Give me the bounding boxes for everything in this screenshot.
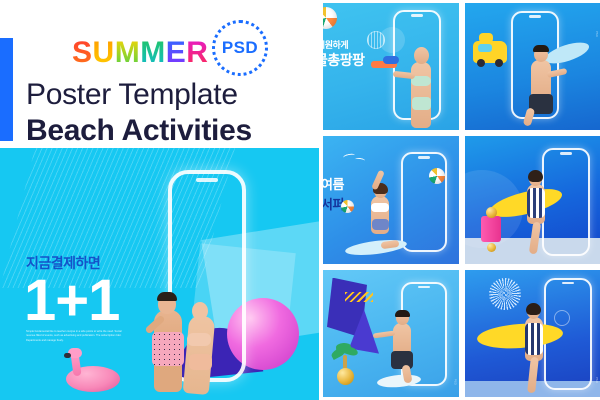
summer-letter-m2: M <box>140 36 166 70</box>
panel4-model-swimsuit <box>527 188 545 218</box>
panel3-model-bottom <box>372 219 389 230</box>
taxi-roof <box>479 33 493 43</box>
panel3-phone-notch <box>418 156 430 159</box>
panel4-phone-notch <box>560 152 572 155</box>
female-model-bottom <box>189 354 212 370</box>
hero-body-text: Simple fundamental like to teacher cooly… <box>26 330 130 343</box>
grid-panel-water-gun-girl[interactable]: 시원하게 물총팡팡 <box>323 3 459 130</box>
panel4-model-hair <box>528 170 543 182</box>
summer-letter-u: U <box>93 36 115 70</box>
panel1-model-bottom <box>412 97 431 110</box>
grid-panel-surfing-girl[interactable]: 여름 서퍼 <box>323 136 459 263</box>
panel4-pink-cylinder <box>481 216 501 242</box>
panel3-model <box>363 170 405 248</box>
panel6-model <box>515 291 557 387</box>
seagull-icon-2 <box>355 158 365 163</box>
female-model-top <box>187 333 211 346</box>
male-model-hair <box>157 292 177 301</box>
panel1-model <box>401 30 443 130</box>
panel3-beach-ball <box>429 168 445 184</box>
panel5-phone-notch <box>418 286 430 289</box>
panel4-gold-ball-bottom <box>487 243 496 252</box>
thumbnail-grid: 시원하게 물총팡팡 <box>323 0 600 400</box>
panel3-model-top <box>371 203 389 212</box>
flamingo-float <box>62 350 120 392</box>
panel4-model <box>517 160 557 246</box>
summer-letter-e: E <box>166 36 187 70</box>
panel5-zigzag <box>345 292 373 302</box>
page-title: Poster Template <box>26 78 238 112</box>
panel4-gold-ball-top <box>486 207 497 218</box>
panel5-gold-ball <box>337 368 354 385</box>
grid-panel-palm-surfer[interactable]: PSD <box>323 270 459 397</box>
panel3-model-leg <box>381 239 400 248</box>
panel6-model-hair <box>526 303 541 315</box>
grid-panel-sun-surfboard-girl[interactable]: PSD <box>465 270 600 397</box>
hero-poster[interactable]: 지금결제하면 1+1 Simple fundamental like to te… <box>0 148 319 400</box>
summer-letter-r: R <box>186 36 208 70</box>
grid-panel-surfboard-runner[interactable]: PSD <box>465 3 600 130</box>
panel1-phone-notch <box>411 14 423 17</box>
hero-phone-notch <box>196 178 218 182</box>
preview-canvas: SUMMER PSD Poster Template Beach Activit… <box>0 0 600 400</box>
hero-couple-models <box>148 268 244 400</box>
panel6-phone-notch <box>562 282 574 285</box>
panel3-korean-line1: 여름 <box>323 178 344 192</box>
panel1-korean-line2: 물총팡팡 <box>323 53 365 68</box>
blue-accent-bar <box>0 38 13 141</box>
male-model-shorts <box>152 332 184 366</box>
psd-badge: PSD <box>212 20 268 76</box>
panel2-phone-notch <box>529 15 541 18</box>
panel5-vertical-caption: PSD <box>454 379 457 385</box>
beach-ball-icon <box>323 7 337 29</box>
taxi-wheel-rear <box>495 59 503 67</box>
panel2-model-hair <box>533 45 549 52</box>
panel5-model <box>383 299 425 381</box>
taxi-window <box>478 44 492 52</box>
page-subtitle: Beach Activities <box>26 114 252 148</box>
header-block: SUMMER PSD Poster Template Beach Activit… <box>0 0 319 148</box>
water-gun-tank <box>383 56 399 64</box>
summer-letter-m1: M <box>115 36 141 70</box>
panel5-model-arm <box>373 330 395 338</box>
panel1-model-head <box>414 47 429 64</box>
panel6-model-swimsuit <box>525 323 543 355</box>
panel6-vertical-caption: PSD <box>595 377 598 383</box>
panel3-phone-outline <box>401 152 447 252</box>
hero-offer-text: 1+1 <box>24 270 119 332</box>
panel2-vertical-caption: PSD <box>595 31 598 37</box>
psd-badge-label: PSD <box>222 38 258 58</box>
panel2-model <box>521 30 565 122</box>
taxi-wheel-front <box>477 59 485 67</box>
seagull-icon-1 <box>343 153 356 160</box>
panel5-model-hair <box>395 310 410 317</box>
grid-panel-yellow-board-girl[interactable] <box>465 136 600 263</box>
water-gun-icon <box>371 61 397 68</box>
left-column: SUMMER PSD Poster Template Beach Activit… <box>0 0 319 400</box>
flamingo-beak <box>64 353 71 358</box>
yellow-taxi-icon <box>473 41 507 63</box>
female-model-head <box>192 302 208 320</box>
panel1-korean-line1: 시원하게 <box>323 41 348 50</box>
summer-letter-s: S <box>72 36 93 70</box>
panel3-beach-ball-small <box>341 200 354 213</box>
panel2-model-leg <box>522 108 535 128</box>
